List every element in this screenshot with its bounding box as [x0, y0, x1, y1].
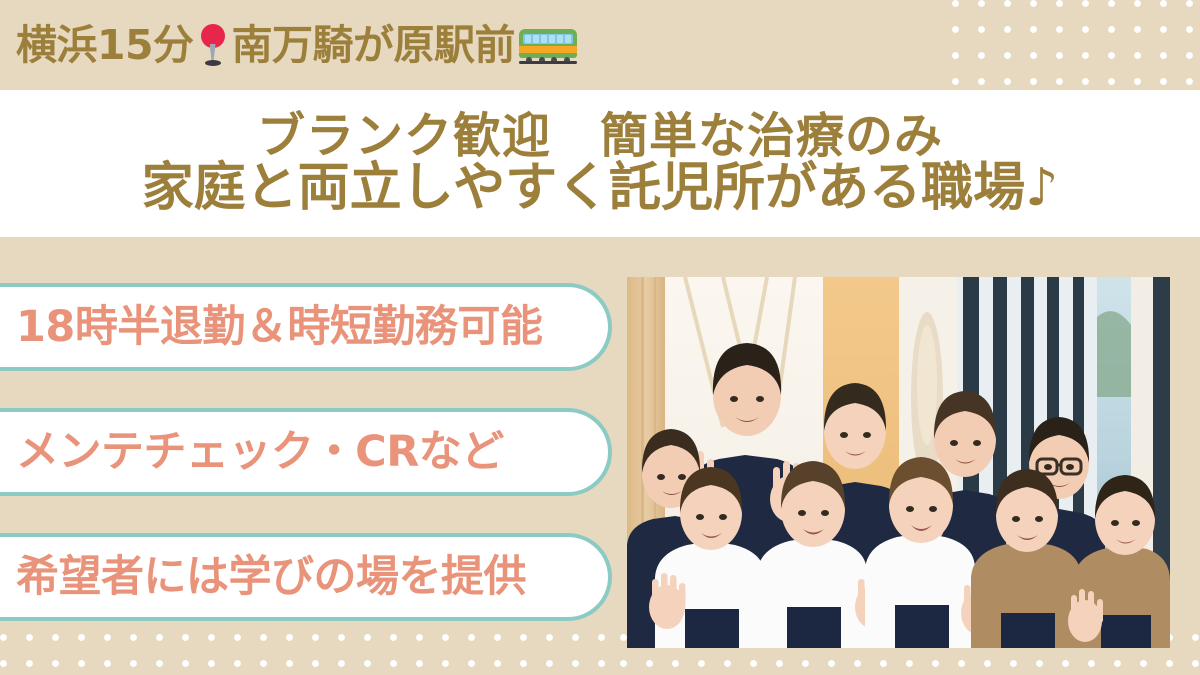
feature-pill-list: 18時半退勤＆時短勤務可能 メンテチェック・CRなど 希望者には学びの場を提供 [0, 283, 616, 658]
feature-pill-3: 希望者には学びの場を提供 [0, 533, 612, 621]
job-ad-banner: 横浜15分 南万騎が原駅前 ブランク歓迎 簡単な治療のみ 家庭と両立しやすく託児… [0, 0, 1200, 675]
header-station-name: 南万騎が原駅前 [232, 25, 516, 66]
header-commute-time: 横浜15分 [16, 25, 194, 66]
map-pin-icon [198, 22, 228, 68]
feature-pill-3-label: 希望者には学びの場を提供 [16, 556, 526, 599]
train-car-icon [519, 25, 577, 65]
feature-pill-2-label: メンテチェック・CRなど [16, 431, 504, 474]
headline-line-2: 家庭と両立しやすく託児所がある職場♪ [142, 161, 1059, 216]
headline-band: ブランク歓迎 簡単な治療のみ 家庭と両立しやすく託児所がある職場♪ [0, 90, 1200, 237]
feature-pill-1-label: 18時半退勤＆時短勤務可能 [16, 306, 542, 349]
header-location-line: 横浜15分 南万騎が原駅前 [0, 22, 577, 68]
feature-pill-2: メンテチェック・CRなど [0, 408, 612, 496]
staff-group-photo [627, 277, 1170, 648]
headline-line-1: ブランク歓迎 簡単な治療のみ [257, 111, 943, 162]
feature-pill-1: 18時半退勤＆時短勤務可能 [0, 283, 612, 371]
header-strip: 横浜15分 南万騎が原駅前 [0, 0, 1200, 90]
